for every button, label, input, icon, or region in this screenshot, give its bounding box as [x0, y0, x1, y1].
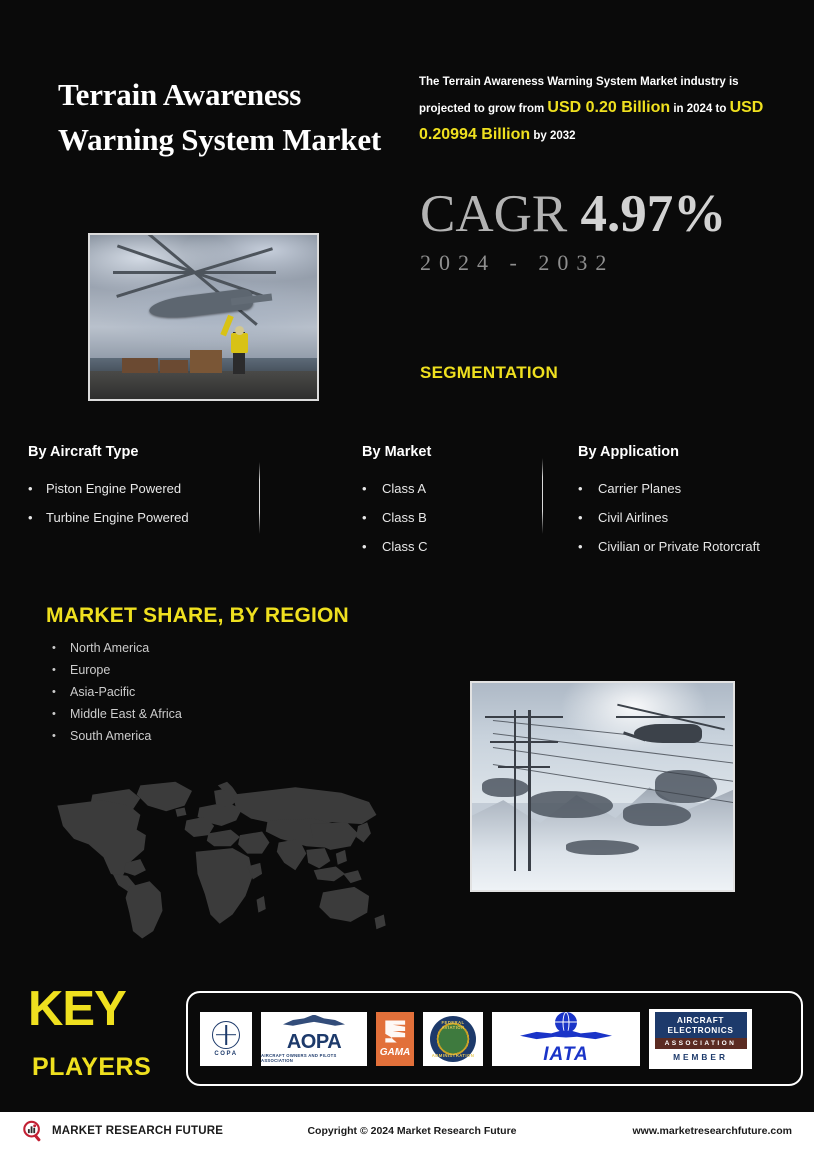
key-players-logo-box: COPA AOPA AIRCRAFT OWNERS AND PILOTS ASS…: [186, 991, 803, 1086]
hero-cargo-3: [190, 350, 222, 373]
infographic-poster: Terrain Awareness Warning System Market …: [0, 0, 814, 1150]
segmentation-column-aircraft-type: By Aircraft Type Piston Engine Powered T…: [28, 444, 248, 532]
copa-aircraft-cross-icon: [212, 1021, 240, 1049]
logo-aopa: AOPA AIRCRAFT OWNERS AND PILOTS ASSOCIAT…: [261, 1012, 367, 1066]
summary-part-3: by 2032: [530, 130, 575, 142]
segmentation-heading: By Market: [362, 444, 542, 460]
segmentation-title: SEGMENTATION: [420, 363, 558, 383]
summary-value-2024: USD 0.20 Billion: [547, 99, 670, 116]
list-item: Civil Airlines: [578, 503, 803, 532]
segmentation-heading: By Aircraft Type: [28, 444, 248, 460]
list-item: Carrier Planes: [578, 474, 803, 503]
segmentation-divider-1: [259, 462, 260, 534]
segmentation-list: Piston Engine Powered Turbine Engine Pow…: [28, 474, 248, 532]
logo-aopa-label: AOPA: [287, 1032, 341, 1052]
snow-rock-2: [623, 803, 691, 826]
list-item: Piston Engine Powered: [28, 474, 248, 503]
footer-brand-text: MARKET RESEARCH FUTURE: [52, 1125, 223, 1137]
logo-copa: COPA: [200, 1012, 252, 1066]
snowy-mountain-helicopter-image: [470, 681, 735, 892]
logo-iata-label: IATA: [543, 1044, 589, 1066]
hero-crew-vest: [231, 333, 248, 353]
key-players-heading-line1: KEY: [28, 985, 126, 1034]
segmentation-list: Class A Class B Class C: [362, 474, 542, 561]
gama-mark-icon: [384, 1020, 406, 1044]
logo-aopa-subtitle: AIRCRAFT OWNERS AND PILOTS ASSOCIATION: [261, 1053, 367, 1063]
logo-aea-line2: ASSOCIATION: [655, 1038, 747, 1049]
cagr-block: CAGR 4.97% 2024 - 2032: [420, 186, 790, 276]
logo-faa-bottom-label: ADMINISTRATION: [430, 1053, 476, 1058]
world-map-svg: [34, 778, 409, 944]
logo-aea-line3: MEMBER: [655, 1049, 747, 1065]
cagr-label: CAGR: [420, 185, 567, 243]
footer-brand: MARKET RESEARCH FUTURE: [22, 1120, 322, 1143]
logo-iata: IATA: [492, 1012, 640, 1066]
cagr-line: CAGR 4.97%: [420, 186, 790, 242]
hero-cargo-2: [160, 360, 187, 373]
footer-website-url[interactable]: www.marketresearchfuture.com: [542, 1125, 792, 1137]
iata-wings-icon: [520, 1030, 612, 1043]
logo-faa: FEDERAL AVIATION ADMINISTRATION: [423, 1012, 483, 1066]
list-item: Turbine Engine Powered: [28, 503, 248, 532]
list-item: South America: [46, 725, 182, 747]
hero-helicopter-deck-image: [88, 233, 319, 401]
segmentation-list: Carrier Planes Civil Airlines Civilian o…: [578, 474, 803, 561]
logo-gama: GAMA: [376, 1012, 414, 1066]
list-item: Europe: [46, 659, 182, 681]
list-item: Class B: [362, 503, 542, 532]
footer-copyright: Copyright © 2024 Market Research Future: [282, 1125, 542, 1137]
iata-globe-icon: [555, 1012, 577, 1033]
list-item: Civilian or Private Rotorcraft: [578, 532, 803, 561]
logo-copa-label: COPA: [214, 1051, 237, 1057]
key-players-heading-line2: PLAYERS: [32, 1055, 151, 1080]
magnifier-chart-icon: [22, 1120, 45, 1143]
page-title: Terrain Awareness Warning System Market: [58, 72, 398, 162]
faa-seal-icon: FEDERAL AVIATION ADMINISTRATION: [430, 1016, 476, 1062]
snow-rock-1: [529, 791, 613, 818]
snow-rock-5: [566, 840, 639, 854]
region-list: North America Europe Asia-Pacific Middle…: [46, 637, 182, 747]
summary-part-2: in 2024 to: [670, 103, 729, 115]
snow-pylon-leg-2: [528, 710, 531, 871]
list-item: Asia-Pacific: [46, 681, 182, 703]
list-item: Middle East & Africa: [46, 703, 182, 725]
list-item: Class A: [362, 474, 542, 503]
footer: MARKET RESEARCH FUTURE Copyright © 2024 …: [0, 1109, 814, 1150]
list-item: Class C: [362, 532, 542, 561]
world-map: [34, 778, 409, 944]
snow-pylon-arm-2: [490, 741, 558, 743]
market-summary-text: The Terrain Awareness Warning System Mar…: [419, 70, 779, 149]
hero-deck: [90, 371, 317, 399]
snow-pylon-arm-1: [485, 716, 563, 718]
snow-pylon-leg-1: [514, 710, 517, 871]
market-share-region-title: MARKET SHARE, BY REGION: [46, 604, 349, 628]
logo-faa-top-label: FEDERAL AVIATION: [430, 1020, 476, 1030]
world-map-landmasses: [57, 782, 385, 939]
segmentation-divider-2: [542, 458, 543, 534]
list-item: North America: [46, 637, 182, 659]
cagr-period: 2024 - 2032: [420, 250, 790, 276]
logo-aea: AIRCRAFT ELECTRONICS ASSOCIATION MEMBER: [649, 1009, 752, 1069]
segmentation-column-market: By Market Class A Class B Class C: [362, 444, 542, 561]
logo-aea-line1: AIRCRAFT ELECTRONICS: [655, 1012, 747, 1038]
segmentation-heading: By Application: [578, 444, 803, 460]
market-research-future-logo-icon: [22, 1120, 45, 1143]
hero-cargo-1: [122, 358, 158, 373]
aopa-wings-icon: [283, 1015, 345, 1031]
logo-gama-label: GAMA: [380, 1047, 411, 1058]
segmentation-column-application: By Application Carrier Planes Civil Airl…: [578, 444, 803, 561]
cagr-value: 4.97%: [581, 185, 727, 243]
snow-rock-3: [482, 778, 529, 797]
